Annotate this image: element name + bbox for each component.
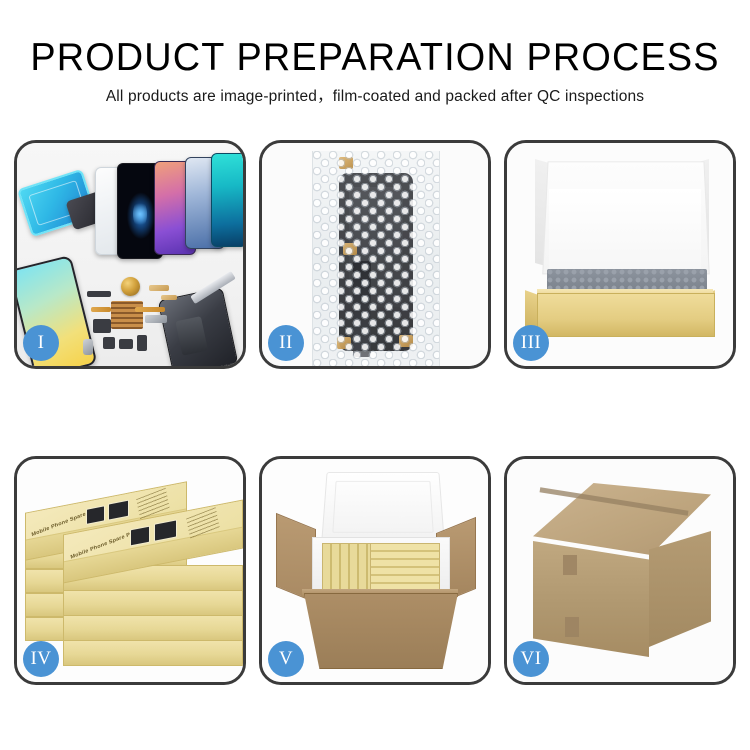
spare-part-graphic — [145, 315, 167, 323]
stacked-box — [63, 590, 243, 616]
carton-side-graphic — [649, 531, 711, 647]
process-step-panel-1: I — [14, 140, 246, 369]
process-step-panel-5: V — [259, 456, 491, 685]
flex-cable-graphic — [135, 307, 165, 312]
stacked-box — [63, 615, 243, 641]
process-step-panel-4: Mobile Phone Spare Parts Mobile Phone Sp… — [14, 456, 246, 685]
bubble-texture — [313, 151, 439, 366]
spare-part-graphic — [103, 337, 115, 349]
spare-part-graphic — [137, 335, 147, 351]
teal-phone-graphic — [211, 153, 243, 247]
spare-part-graphic — [83, 339, 93, 355]
spare-part-graphic — [161, 295, 177, 300]
process-step-grid: I II — [14, 140, 736, 685]
yellow-box-body-graphic — [537, 293, 715, 337]
spare-part-graphic — [149, 285, 169, 291]
process-step-panel-2: II — [259, 140, 491, 369]
connector-grid-graphic — [111, 301, 143, 329]
step-badge-5: V — [268, 641, 304, 677]
spare-part-graphic — [87, 291, 111, 297]
bubble-wrap-bag-graphic — [312, 151, 440, 366]
carton-front-graphic — [533, 541, 649, 657]
page-title: PRODUCT PREPARATION PROCESS — [11, 36, 739, 80]
speaker-module-graphic — [121, 277, 140, 296]
step-badge-3: III — [513, 325, 549, 361]
process-step-panel-6: VI — [504, 456, 736, 685]
process-step-panel-3: III — [504, 140, 736, 369]
spare-part-graphic — [93, 319, 111, 333]
product-preparation-infographic: PRODUCT PREPARATION PROCESS All products… — [0, 0, 750, 750]
spare-part-graphic — [119, 339, 133, 349]
foam-lid-graphic — [321, 472, 445, 543]
step-badge-6: VI — [513, 641, 549, 677]
carton-front-graphic — [304, 593, 458, 669]
packed-boxes-graphic — [370, 543, 440, 591]
foam-sheet-graphic — [549, 189, 701, 275]
flex-cable-graphic — [91, 307, 111, 312]
page-subtitle: All products are image-printed，film-coat… — [0, 87, 750, 107]
stacked-box — [63, 640, 243, 666]
box-stack-graphic: Mobile Phone Spare Parts Mobile Phone Sp… — [25, 475, 241, 675]
carton-tape-graphic — [565, 617, 579, 637]
step-badge-4: IV — [23, 641, 59, 677]
header: PRODUCT PREPARATION PROCESS All products… — [0, 36, 750, 107]
step-badge-1: I — [23, 325, 59, 361]
carton-tape-graphic — [563, 555, 577, 575]
step-badge-2: II — [268, 325, 304, 361]
